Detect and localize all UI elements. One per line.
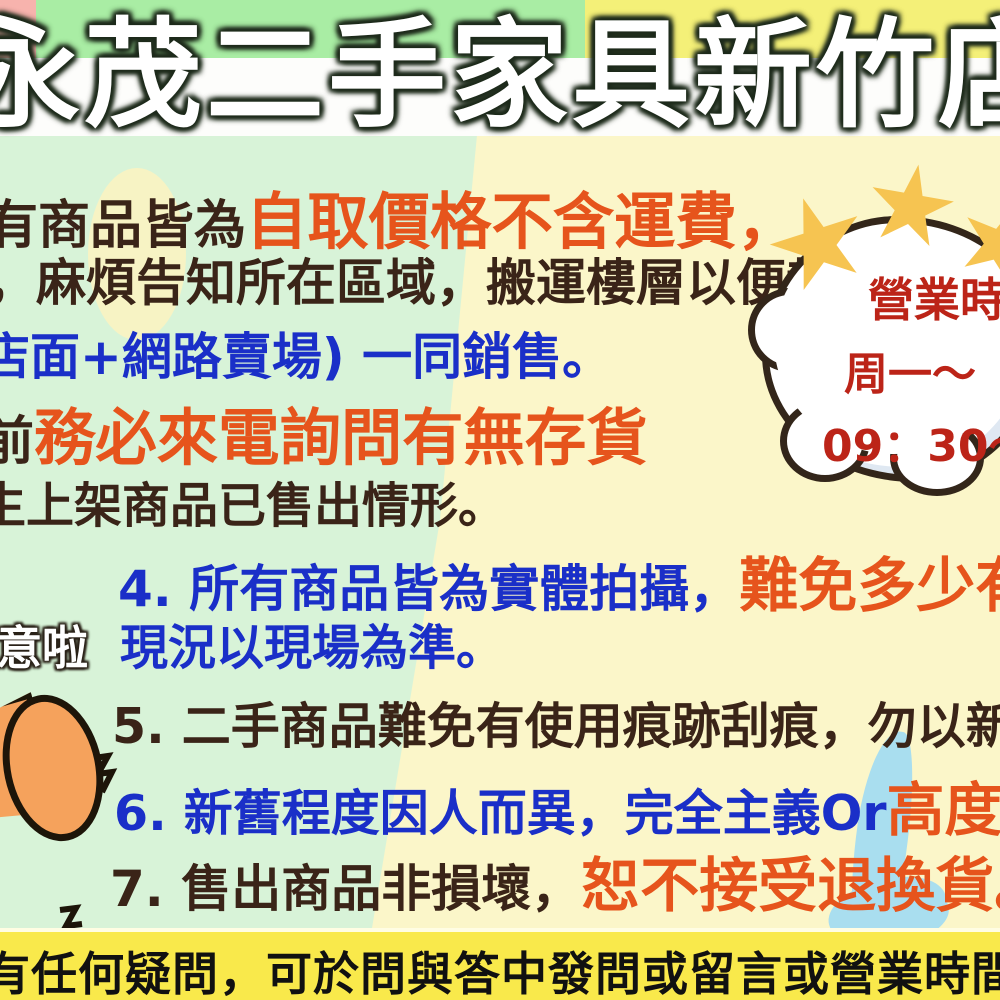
business-hours-bubble: 營業時 周一～ 09：30～ [740,168,1000,508]
notice-item-7: 7. 售出商品非損壞，恕不接受退換貨。 [110,856,1000,915]
notice-line-1-highlight: 自取價格不含運費， [246,187,798,258]
hours-heading: 營業時 [868,264,1000,330]
notice-line-3: 店面+網路賣場) 一同銷售。 [0,332,612,382]
notice-line-4-dark: 前 [0,412,34,472]
notice-line-1-dark: 有商品皆為 [0,196,246,256]
notice-item-5: 5. 二手商品難免有使用痕跡刮痕，勿以新品標準檢 [112,702,1000,751]
footer-text: 有任何疑問，可於問與答中發問或留言或營業時間 [0,938,1000,1000]
notice-item-6: 6. 新舊程度因人而異，完全主義Or高度要求請 [114,782,1000,840]
notice-item-4-continued: 現況以現場為準。 [120,624,504,672]
notice-item-4-blue: 4. 所有商品皆為實體拍攝， [118,560,739,618]
notice-item-6-blue: 6. 新舊程度因人而異，完全主義Or [114,785,887,842]
attention-callout: 注意啦 [0,612,142,932]
notice-item-7-dark: 7. 售出商品非損壞， [110,860,581,918]
notice-item-7-highlight: 恕不接受退換貨。 [581,851,1000,920]
page-title: 永茂二手家具新竹店 [0,8,1000,144]
hours-days: 周一～ [844,338,1000,402]
notice-line-5: 生上架商品已售出情形。 [0,482,506,530]
notice-item-4: 4. 所有商品皆為實體拍攝，難免多少有色差 [118,556,1000,615]
notice-line-4: 前務必來電詢問有無存貨 [0,408,648,469]
hours-time: 09：30～ [822,410,1000,474]
notice-item-4-highlight: 難免多少有色差 [739,551,1000,620]
notice-item-6-highlight: 高度要求請 [887,776,1000,844]
promo-poster: 永茂二手家具新竹店 有商品皆為自取價格不含運費， ，麻煩告知所在區域，搬運樓層以… [0,0,1000,1000]
notice-line-1: 有商品皆為自取價格不含運費， [0,192,798,253]
footer-band: 有任何疑問，可於問與答中發問或留言或營業時間 [0,928,1000,1000]
footer-divider [0,928,1000,932]
notice-line-4-highlight: 務必來電詢問有無存貨 [34,403,648,474]
attention-label: 注意啦 [0,612,88,678]
